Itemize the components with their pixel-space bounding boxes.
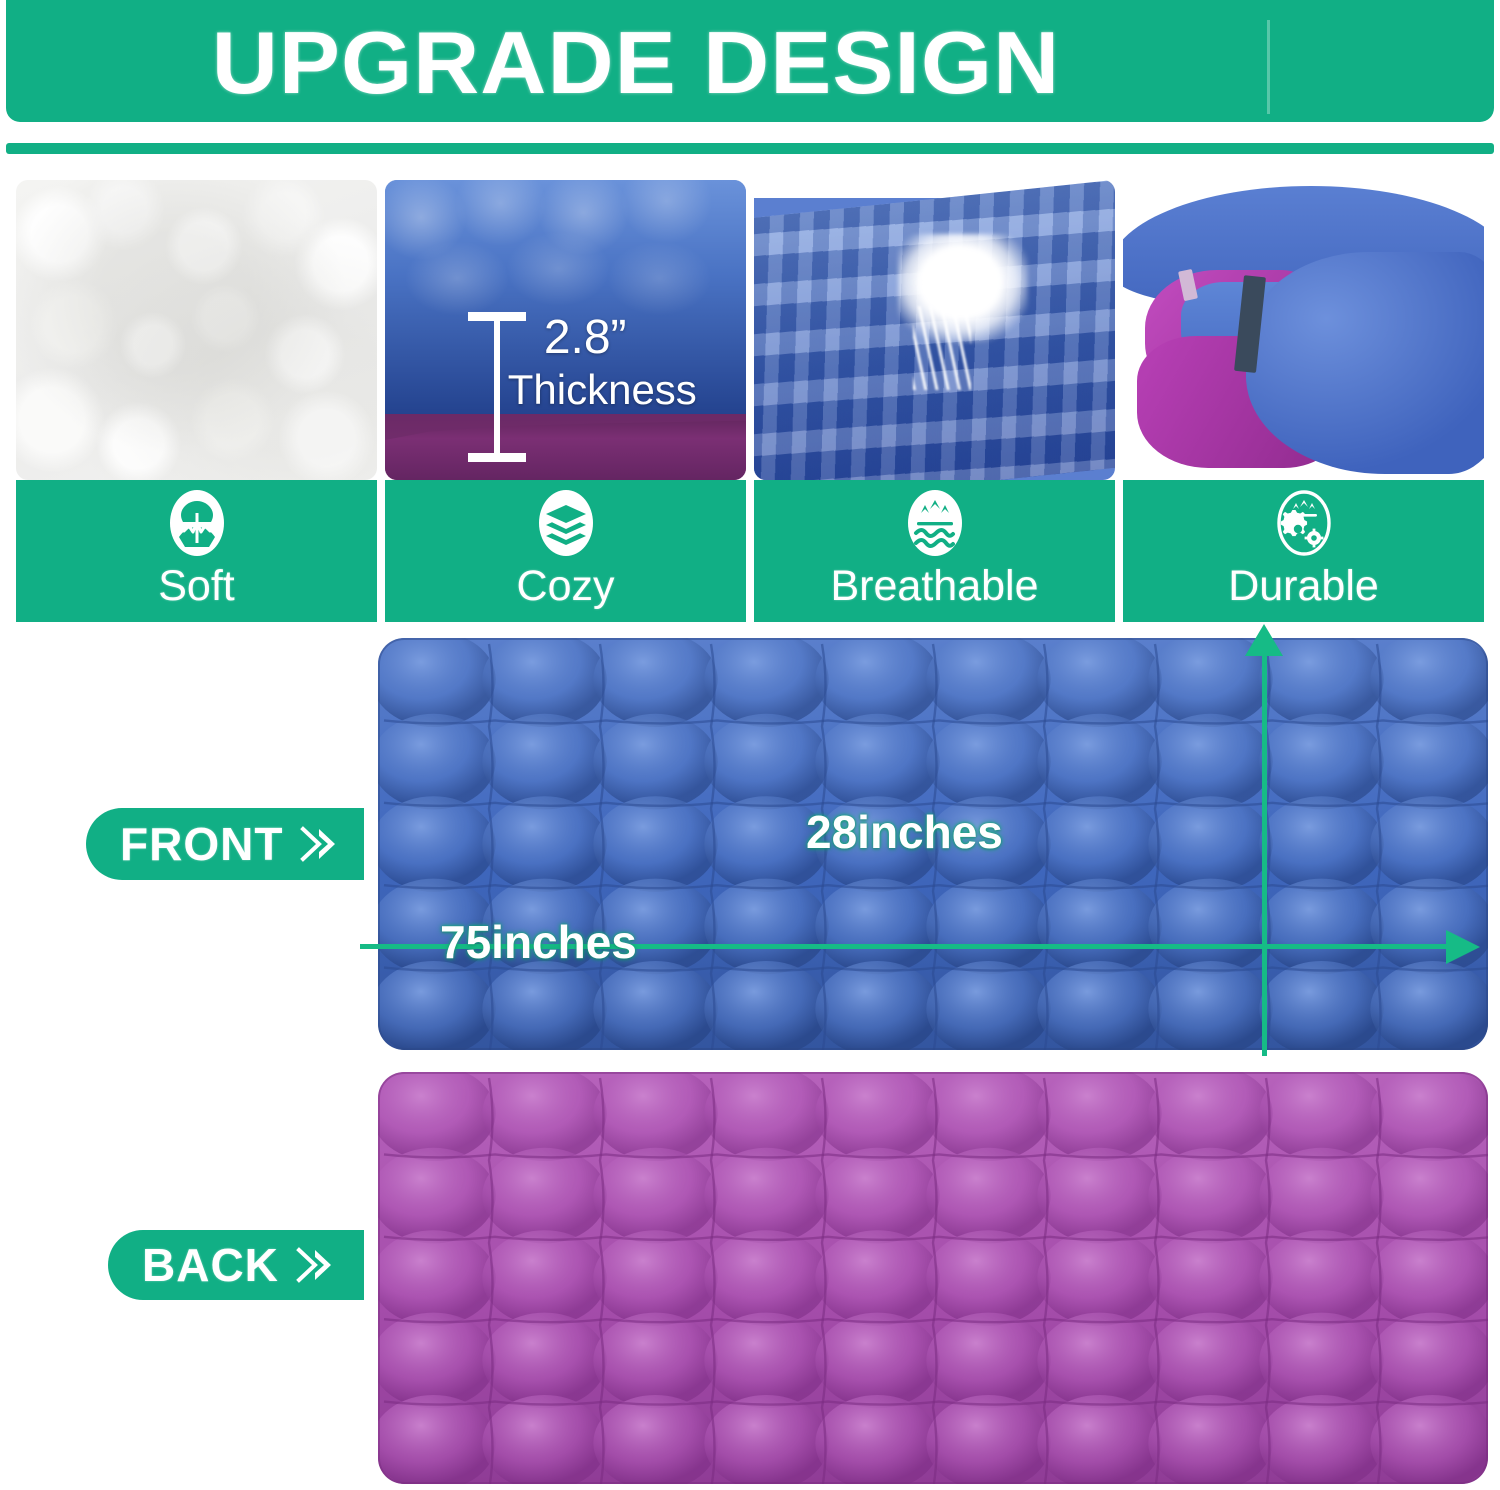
- gears-badge-icon: [1273, 487, 1335, 559]
- airflow-waves-badge-icon: [904, 487, 966, 559]
- feature-label-text: Breathable: [831, 561, 1039, 611]
- feature-label-cozy: Cozy: [385, 480, 746, 622]
- feather-badge-icon: [166, 487, 228, 559]
- feature-tile-durable: Durable: [1123, 180, 1484, 622]
- feature-label-text: Soft: [158, 561, 235, 611]
- feature-label-text: Durable: [1228, 561, 1379, 611]
- back-badge-label: BACK: [142, 1241, 279, 1289]
- purple-cushion-surface: [378, 1072, 1488, 1484]
- height-dimension-line: [1262, 654, 1267, 1056]
- header-banner: UPGRADE DESIGN: [0, 0, 1500, 128]
- double-chevron-right-icon: [295, 1245, 341, 1285]
- thickness-value: 2.8”: [544, 312, 627, 364]
- height-dimension-arrowhead: [1245, 624, 1283, 656]
- front-badge-label: FRONT: [120, 820, 283, 868]
- header-accent-strip: [6, 143, 1494, 154]
- width-dimension-label: 75inches: [440, 916, 637, 968]
- polyester-fiber-fill-photo: [16, 180, 377, 480]
- feature-label-text: Cozy: [517, 561, 615, 611]
- rolled-cushion-photo: [1123, 180, 1484, 480]
- header-green-bar: UPGRADE DESIGN: [6, 0, 1494, 122]
- cushion-purple-underside: [385, 411, 746, 480]
- thickness-caption: Thickness: [508, 366, 697, 414]
- breathable-mattress-airflow-photo: [754, 180, 1115, 480]
- roll-blue-outer-body: [1246, 252, 1484, 474]
- front-view-badge[interactable]: FRONT: [86, 808, 364, 880]
- feature-label-soft: Soft: [16, 480, 377, 622]
- header-divider: [1267, 20, 1270, 114]
- page-title: UPGRADE DESIGN: [0, 10, 1291, 116]
- height-dimension-label: 28inches: [806, 806, 1003, 858]
- product-view-back: [378, 1072, 1488, 1484]
- feature-tile-cozy: 2.8” Thickness Cozy: [385, 180, 746, 622]
- double-chevron-right-icon: [299, 824, 345, 864]
- width-dimension-arrowhead: [1446, 930, 1480, 964]
- back-view-badge[interactable]: BACK: [108, 1230, 364, 1300]
- cushion-thickness-photo: 2.8” Thickness: [385, 180, 746, 480]
- dimension-annotations: 75inches 28inches: [378, 638, 1488, 1050]
- feature-tiles-row: Soft 2.8” Thickness Cozy: [16, 180, 1484, 622]
- feature-label-breathable: Breathable: [754, 480, 1115, 622]
- feature-tile-breathable: Breathable: [754, 180, 1115, 622]
- feature-tile-soft: Soft: [16, 180, 377, 622]
- feature-label-durable: Durable: [1123, 480, 1484, 622]
- layers-badge-icon: [535, 487, 597, 559]
- air-puff: [898, 234, 1028, 342]
